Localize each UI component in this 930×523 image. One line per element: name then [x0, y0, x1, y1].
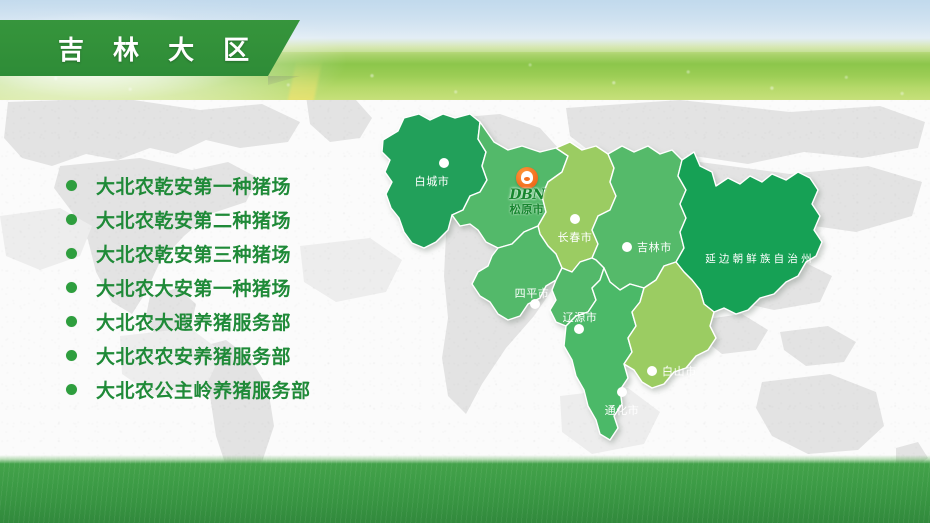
title-banner: 吉 林 大 区 — [0, 20, 300, 76]
bullet-icon — [66, 350, 77, 361]
list-item[interactable]: 大北农大遐养猪服务部 — [66, 304, 376, 338]
list-item[interactable]: 大北农乾安第三种猪场 — [66, 236, 376, 270]
bullet-icon — [66, 316, 77, 327]
bullet-icon — [66, 180, 77, 191]
bullet-icon — [66, 248, 77, 259]
facility-label: 大北农乾安第三种猪场 — [96, 240, 291, 267]
list-item[interactable]: 大北农农安养猪服务部 — [66, 338, 376, 372]
bullet-icon — [66, 384, 77, 395]
footer-grass-texture — [0, 455, 930, 523]
list-item[interactable]: 大北农乾安第二种猪场 — [66, 202, 376, 236]
page-title: 吉 林 大 区 — [58, 30, 259, 67]
facility-label: 大北农大安第一种猪场 — [96, 274, 291, 301]
bullet-icon — [66, 214, 77, 225]
bullet-icon — [66, 282, 77, 293]
facility-label: 大北农大遐养猪服务部 — [96, 308, 291, 335]
facility-list: 大北农乾安第一种猪场 大北农乾安第二种猪场 大北农乾安第三种猪场 大北农大安第一… — [66, 168, 376, 406]
dbn-pig-icon — [516, 167, 538, 189]
facility-label: 大北农乾安第一种猪场 — [96, 172, 291, 199]
facility-label: 大北农公主岭养猪服务部 — [96, 376, 311, 403]
list-item[interactable]: 大北农公主岭养猪服务部 — [66, 372, 376, 406]
facility-label: 大北农乾安第二种猪场 — [96, 206, 291, 233]
facility-label: 大北农农安养猪服务部 — [96, 342, 291, 369]
footer-grass-band — [0, 455, 930, 523]
dbn-brand-marker[interactable]: DBN 松原市 — [498, 167, 556, 215]
list-item[interactable]: 大北农大安第一种猪场 — [66, 270, 376, 304]
slide-canvas: 吉 林 大 区 — [0, 0, 930, 523]
list-item[interactable]: 大北农乾安第一种猪场 — [66, 168, 376, 202]
dbn-city-label: 松原市 — [498, 201, 556, 217]
